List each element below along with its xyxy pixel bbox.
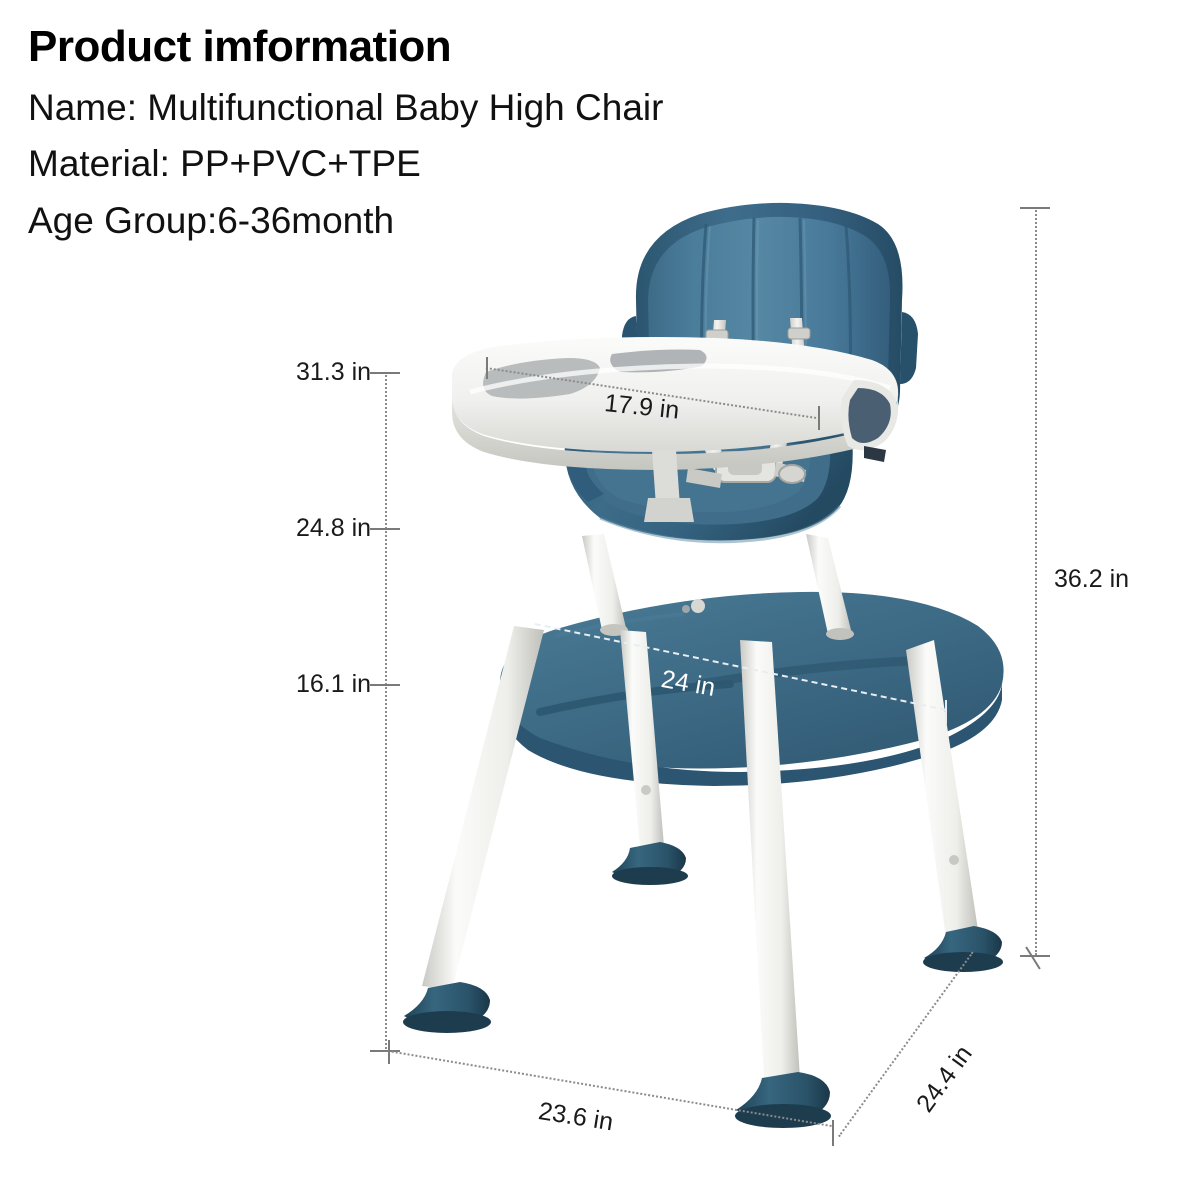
dim-base-width: 23.6 in	[536, 1097, 615, 1137]
right-dimension-line	[1035, 207, 1037, 955]
chair-feet	[403, 842, 1003, 1128]
dim-base-depth: 24.4 in	[911, 1040, 979, 1118]
product-material-line: Material: PP+PVC+TPE	[28, 136, 828, 192]
chair-tray	[452, 337, 898, 522]
footrest-platform	[500, 592, 1004, 786]
tick-31-3	[370, 372, 400, 374]
dim-seat-back-height: 31.3 in	[296, 358, 371, 387]
tick-total-top	[1020, 207, 1050, 209]
tick-base-right	[832, 1120, 834, 1146]
tick-total-bottom	[1020, 955, 1050, 957]
footrest-width-line	[535, 623, 947, 711]
harness-straps	[706, 318, 810, 372]
product-age-group-line: Age Group:6-36month	[28, 193, 828, 249]
tick-24-8	[370, 528, 400, 530]
dim-footrest-height: 16.1 in	[296, 670, 371, 699]
chair-seat	[565, 432, 853, 542]
product-info-page: Product imformation Name: Multifunctiona…	[0, 0, 1200, 1200]
tick-base-left	[388, 1040, 390, 1064]
tick-16-1	[370, 684, 400, 686]
tick-footrest-right	[945, 700, 947, 724]
product-name-line: Name: Multifunctional Baby High Chair	[28, 80, 828, 136]
dim-seat-height: 24.8 in	[296, 514, 371, 543]
page-title: Product imformation	[28, 24, 828, 70]
left-dimension-line	[385, 372, 387, 1052]
tick-tray-left	[486, 357, 488, 379]
dim-footrest-width: 24 in	[659, 665, 717, 703]
chair-legs	[422, 534, 978, 1078]
tick-depth-top	[1025, 946, 1040, 969]
product-information-block: Product imformation Name: Multifunctiona…	[28, 24, 828, 249]
tick-tray-right	[818, 406, 820, 430]
dim-total-height: 36.2 in	[1054, 565, 1129, 594]
harness-buckle	[686, 438, 806, 488]
